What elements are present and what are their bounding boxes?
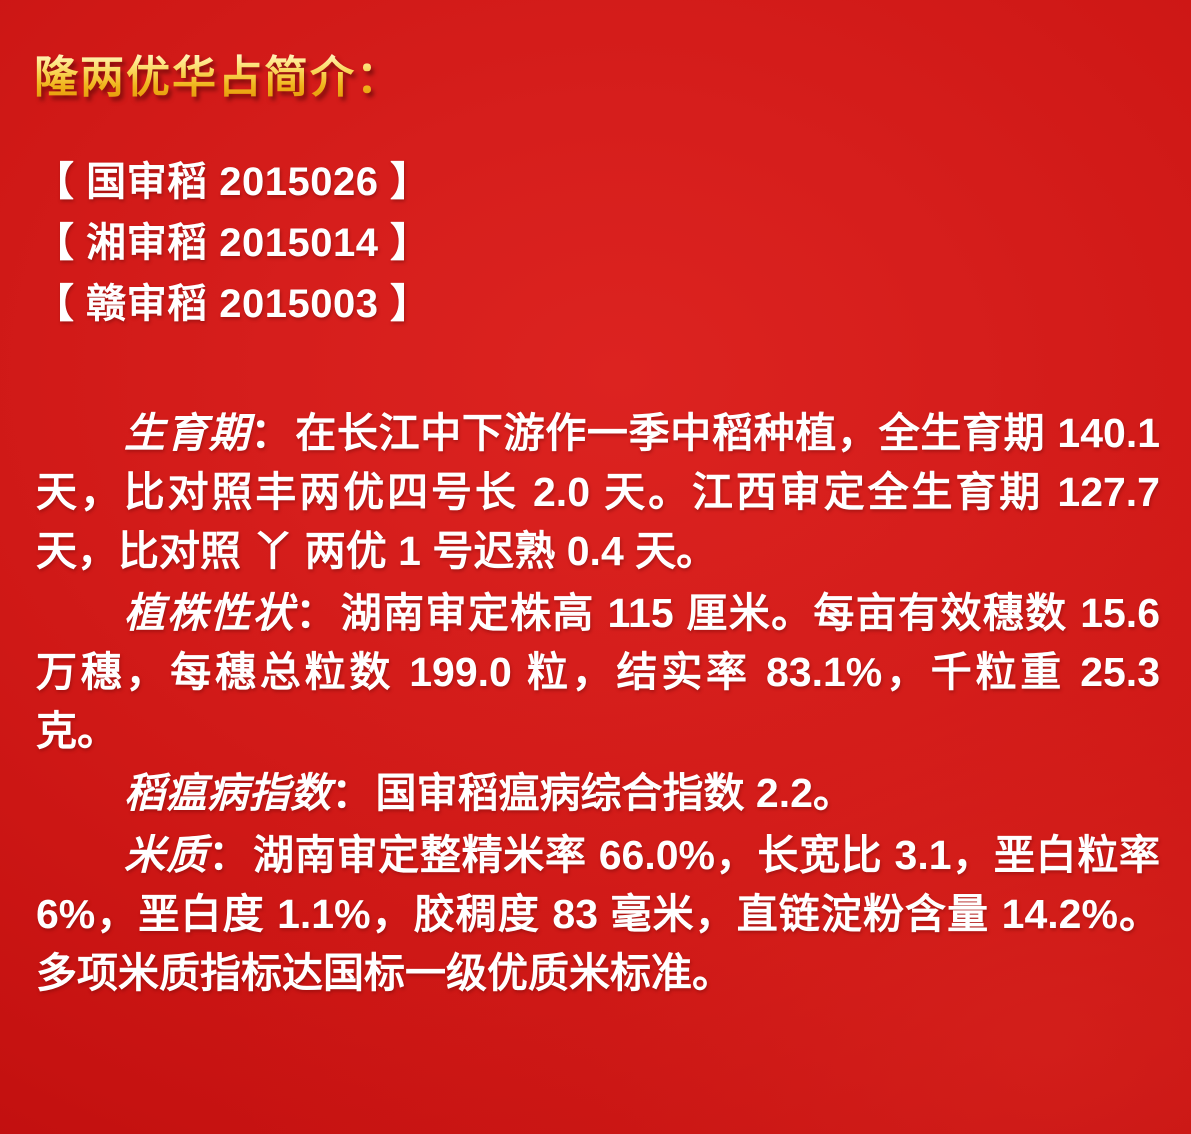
section-colon: ： [295, 590, 340, 636]
section-label: 稻瘟病指数 [124, 770, 332, 816]
section-label: 生育期 [124, 410, 251, 456]
section-blast-index: 稻瘟病指数：国审稻瘟病综合指数 2.2。 [36, 764, 1160, 823]
page-title: 隆两优华占简介： [34, 52, 402, 105]
approval-code-line: 【 国审稻 2015026 】 [34, 152, 1154, 213]
approval-code-line: 【 赣审稻 2015003 】 [34, 274, 1154, 335]
section-colon: ： [332, 770, 376, 816]
section-growth-period: 生育期：在长江中下游作一季中稻种植，全生育期 140.1 天，比对照丰两优四号长… [36, 404, 1160, 581]
approval-code-line: 【 湘审稻 2015014 】 [34, 213, 1154, 274]
description-body: 生育期：在长江中下游作一季中稻种植，全生育期 140.1 天，比对照丰两优四号长… [36, 404, 1160, 1006]
section-rice-quality: 米质：湖南审定整精米率 66.0%，长宽比 3.1，垩白粒率 6%，垩白度 1.… [36, 826, 1160, 1003]
section-label: 植株性状 [124, 590, 295, 636]
section-colon: ： [208, 832, 253, 878]
approval-code-list: 【 国审稻 2015026 】 【 湘审稻 2015014 】 【 赣审稻 20… [34, 152, 1154, 335]
section-colon: ： [251, 410, 296, 456]
section-plant-traits: 植株性状：湖南审定株高 115 厘米。每亩有效穗数 15.6 万穗，每穗总粒数 … [36, 584, 1160, 761]
section-text: 国审稻瘟病综合指数 2.2。 [376, 770, 854, 816]
section-label: 米质 [124, 832, 208, 878]
poster-background: 隆两优华占简介： 【 国审稻 2015026 】 【 湘审稻 2015014 】… [0, 0, 1191, 1134]
